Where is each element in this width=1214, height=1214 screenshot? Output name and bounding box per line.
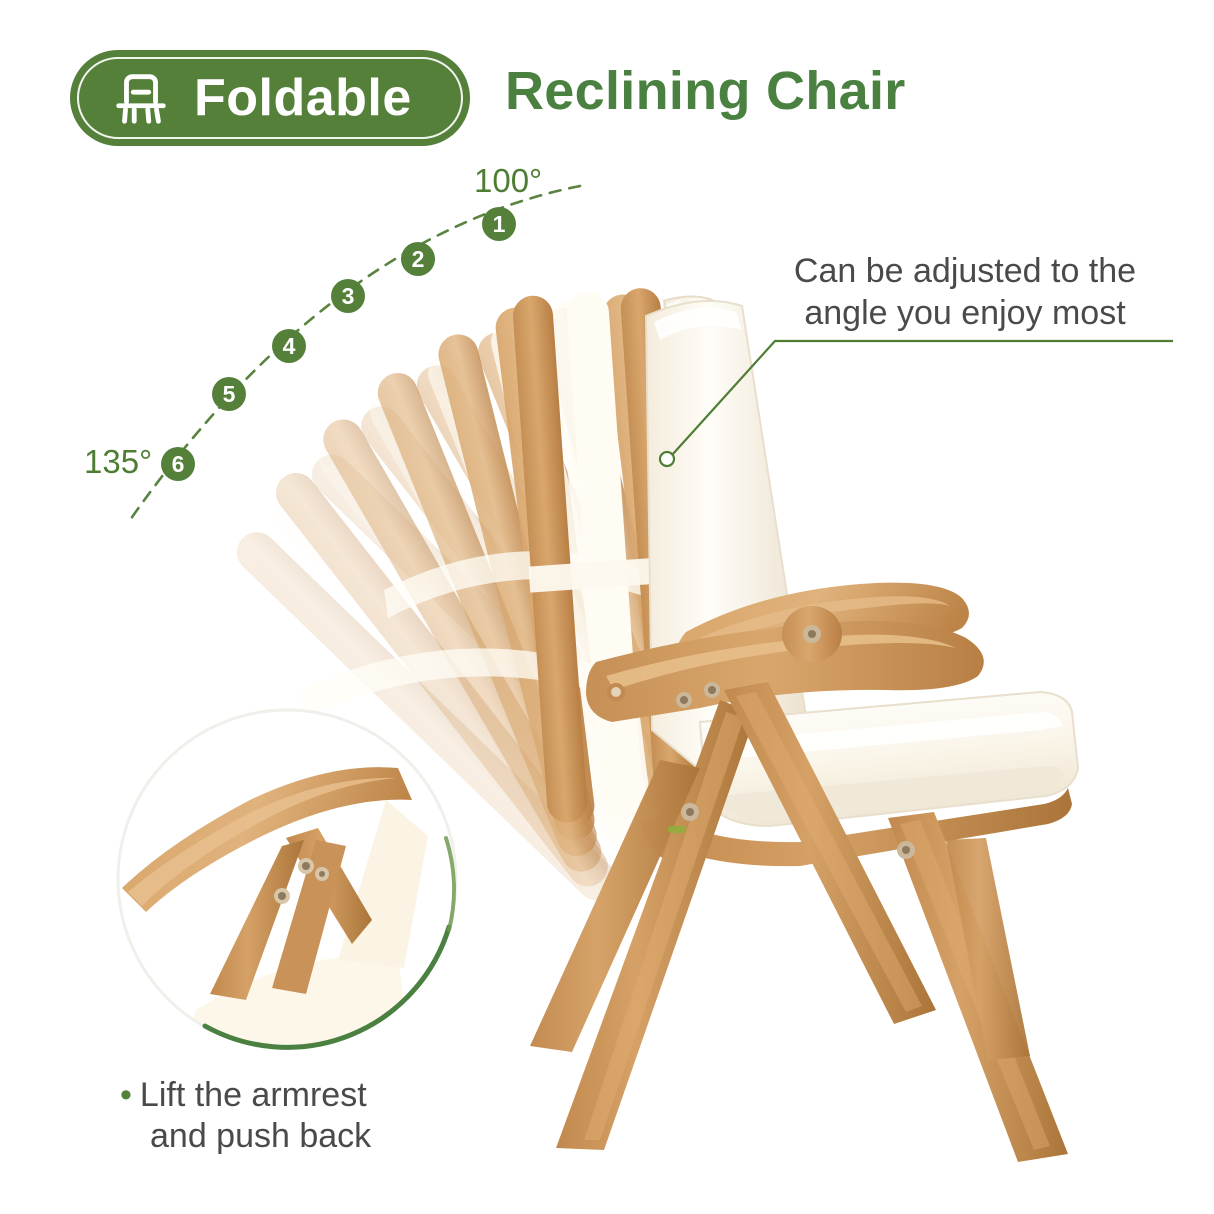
angle-min-label: 100° [474, 162, 542, 200]
badge-label: Foldable [194, 72, 412, 124]
recline-stop-1[interactable]: 1 [482, 207, 516, 241]
adjust-callout-line1: Can be adjusted to the [760, 250, 1170, 292]
inset-caption-line1: •Lift the armrest [120, 1075, 510, 1116]
adjust-callout: Can be adjusted to the angle you enjoy m… [760, 250, 1170, 334]
armrest-near [586, 621, 984, 722]
recline-stop-4[interactable]: 4 [272, 329, 306, 363]
infographic-canvas: Foldable Reclining Chair 100° 135° 1 2 3… [0, 0, 1214, 1214]
adjust-callout-line2: angle you enjoy most [760, 292, 1170, 334]
recline-arc [130, 186, 580, 520]
latch-accent [668, 826, 686, 833]
page-title: Reclining Chair [505, 62, 906, 121]
seat-frame-rail [640, 788, 1072, 868]
armrest-detail-inset [118, 710, 456, 1062]
inset-caption-line2: and push back [120, 1116, 510, 1157]
callout-leader [660, 341, 1173, 466]
inset-caption-text1: Lift the armrest [140, 1076, 367, 1114]
recline-ghost-fan [229, 292, 704, 908]
chair-legs [530, 682, 1068, 1162]
armrest-pivot [782, 606, 842, 662]
armrest-far [675, 583, 969, 677]
foldable-badge[interactable]: Foldable [70, 50, 470, 146]
recline-stop-5[interactable]: 5 [212, 377, 246, 411]
seat-cushion [700, 692, 1078, 826]
recline-stop-3[interactable]: 3 [331, 279, 365, 313]
inset-caption: •Lift the armrest and push back [120, 1075, 510, 1158]
chair-backrest [510, 279, 806, 824]
recline-stop-6[interactable]: 6 [161, 447, 195, 481]
bullet-point: • [120, 1076, 132, 1114]
product-illustration [0, 0, 1214, 1214]
recline-stop-2[interactable]: 2 [401, 242, 435, 276]
angle-max-label: 135° [84, 443, 152, 481]
chair-icon [110, 67, 172, 129]
